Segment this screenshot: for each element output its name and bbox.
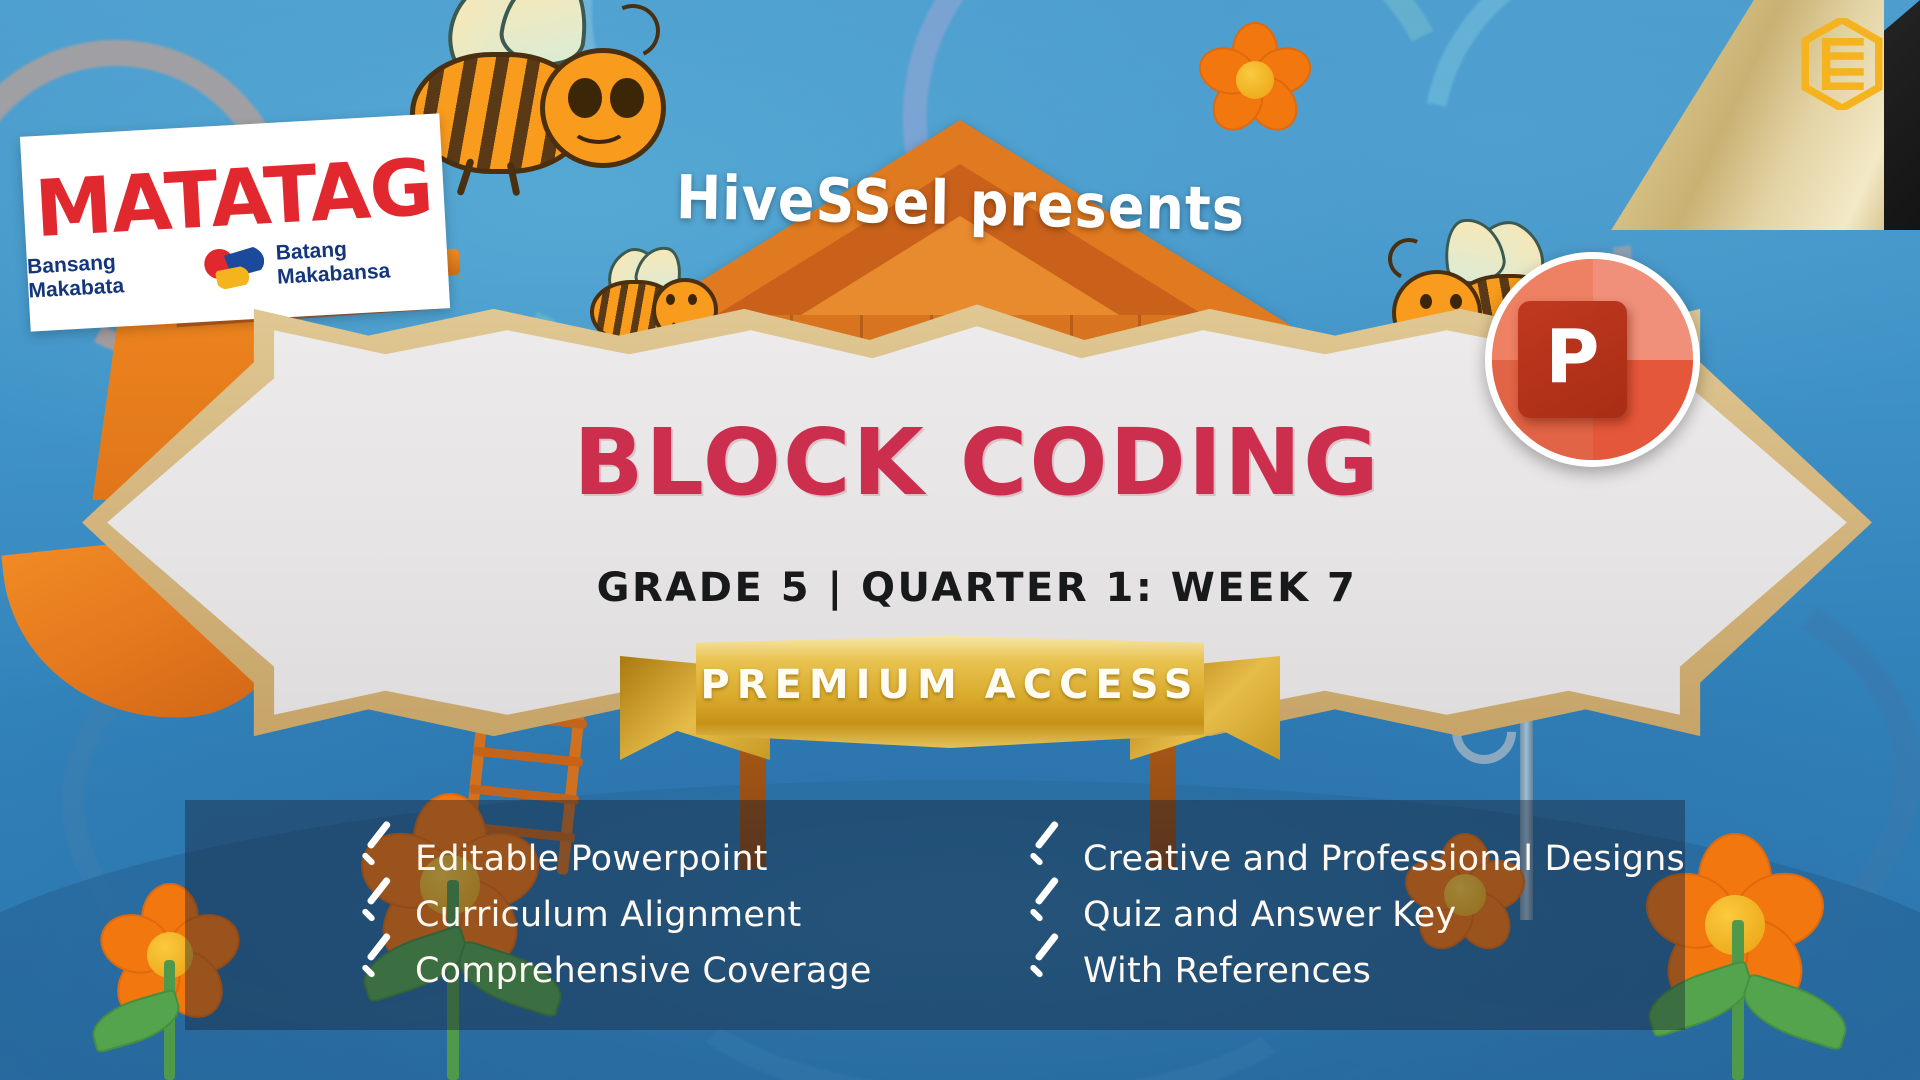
- list-item: Quiz and Answer Key: [1023, 892, 1685, 938]
- presentation-slide: MATATAG Bansang Makabata Batang Makabans…: [0, 0, 1920, 1080]
- list-item: With References: [1023, 948, 1685, 994]
- page-title: BLOCK CODING: [573, 417, 1380, 509]
- list-item: Editable Powerpoint: [355, 836, 955, 882]
- page-curl-corner: [1600, 0, 1920, 230]
- features-right-column: Creative and Professional Designs Quiz a…: [955, 836, 1685, 994]
- features-left-column: Editable Powerpoint Curriculum Alignment…: [185, 836, 955, 994]
- powerpoint-circle: P: [1492, 259, 1693, 460]
- tagline-left: Bansang Makabata: [26, 246, 199, 303]
- clasped-hands-icon: [203, 244, 271, 292]
- hivessel-hex-logo-icon: [1800, 18, 1884, 110]
- check-icon: [1023, 892, 1069, 938]
- list-item: Creative and Professional Designs: [1023, 836, 1685, 882]
- check-icon: [355, 948, 401, 994]
- check-icon: [1023, 836, 1069, 882]
- feature-label: With References: [1083, 951, 1371, 991]
- feature-label: Curriculum Alignment: [415, 895, 801, 935]
- list-item: Comprehensive Coverage: [355, 948, 955, 994]
- features-panel: Editable Powerpoint Curriculum Alignment…: [185, 800, 1685, 1030]
- feature-label: Quiz and Answer Key: [1083, 895, 1456, 935]
- flower-icon: [1195, 20, 1315, 140]
- check-icon: [1023, 948, 1069, 994]
- feature-label: Editable Powerpoint: [415, 839, 768, 879]
- grade-quarter-subtitle: GRADE 5 | QUARTER 1: WEEK 7: [597, 565, 1358, 611]
- check-icon: [355, 836, 401, 882]
- check-icon: [355, 892, 401, 938]
- presenter-text: HiveSSel presents: [675, 162, 1245, 245]
- powerpoint-tile: P: [1518, 301, 1627, 418]
- feature-label: Comprehensive Coverage: [415, 951, 872, 991]
- bee-icon: [410, 0, 650, 190]
- powerpoint-letter: P: [1545, 320, 1599, 394]
- feature-label: Creative and Professional Designs: [1083, 839, 1685, 879]
- ribbon-label: PREMIUM ACCESS: [620, 662, 1280, 708]
- powerpoint-icon: P: [1485, 252, 1700, 467]
- premium-access-ribbon: PREMIUM ACCESS: [620, 636, 1280, 776]
- list-item: Curriculum Alignment: [355, 892, 955, 938]
